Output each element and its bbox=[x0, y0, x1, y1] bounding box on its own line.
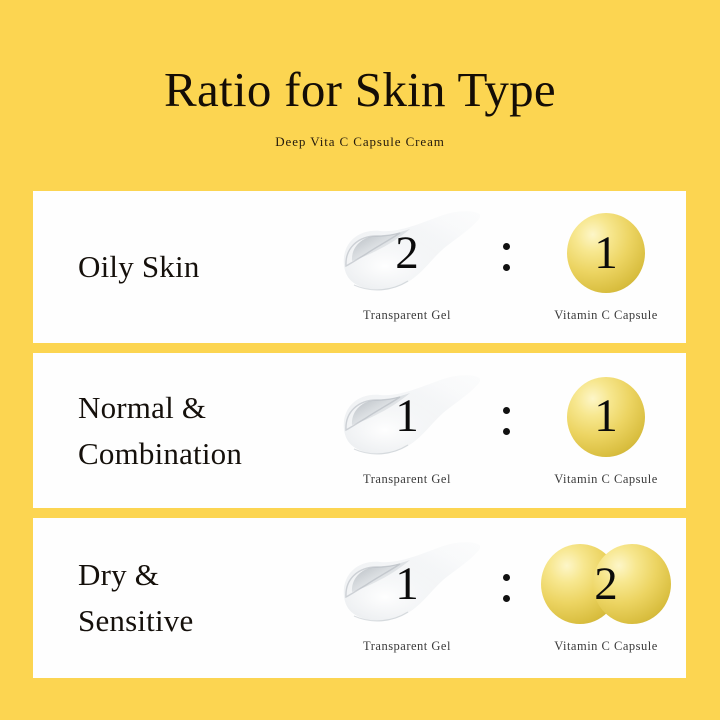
ratio-separator bbox=[487, 366, 526, 496]
ratio-card-normal-combination: Normal & Combination bbox=[33, 353, 686, 508]
capsule-art: 2 bbox=[526, 533, 686, 635]
gel-caption: Transparent Gel bbox=[363, 639, 451, 654]
ratio-card-dry-sensitive: Dry & Sensitive bbox=[33, 518, 686, 678]
page-subtitle: Deep Vita C Capsule Cream bbox=[0, 134, 720, 150]
gel-column: 1 Transparent Gel bbox=[327, 366, 487, 496]
gel-column: 2 Transparent Gel bbox=[327, 202, 487, 332]
capsule-caption: Vitamin C Capsule bbox=[554, 472, 658, 487]
gel-caption: Transparent Gel bbox=[363, 472, 451, 487]
ratio-separator bbox=[487, 202, 526, 332]
gel-amount: 1 bbox=[395, 393, 419, 440]
skin-type-line-2: Combination bbox=[78, 431, 313, 477]
colon-dot-bottom bbox=[503, 595, 510, 602]
capsule-column: 2 Vitamin C Capsule bbox=[526, 533, 686, 663]
gel-art: 2 bbox=[327, 202, 487, 304]
skin-type-line-1: Oily Skin bbox=[78, 244, 313, 290]
skin-type-line-1: Normal & bbox=[78, 385, 313, 431]
skin-type-line-2: Sensitive bbox=[78, 598, 313, 644]
gel-amount: 1 bbox=[395, 561, 419, 608]
infographic-page: Ratio for Skin Type Deep Vita C Capsule … bbox=[0, 0, 720, 720]
gel-art: 1 bbox=[327, 533, 487, 635]
header: Ratio for Skin Type Deep Vita C Capsule … bbox=[0, 0, 720, 150]
gel-caption: Transparent Gel bbox=[363, 308, 451, 323]
gel-column: 1 Transparent Gel bbox=[327, 533, 487, 663]
capsule-amount: 1 bbox=[594, 230, 618, 277]
capsule-caption: Vitamin C Capsule bbox=[554, 308, 658, 323]
skin-type-line-1: Dry & bbox=[78, 552, 313, 598]
capsule-column: 1 Vitamin C Capsule bbox=[526, 202, 686, 332]
capsule-caption: Vitamin C Capsule bbox=[554, 639, 658, 654]
gel-amount: 2 bbox=[395, 230, 419, 277]
capsule-amount: 2 bbox=[594, 561, 618, 608]
colon-dot-top bbox=[503, 574, 510, 581]
skin-type-label: Oily Skin bbox=[33, 244, 313, 290]
colon-dot-bottom bbox=[503, 428, 510, 435]
colon-dot-top bbox=[503, 407, 510, 414]
ratio-card-list: Oily Skin bbox=[33, 191, 686, 678]
ratio-card-oily: Oily Skin bbox=[33, 191, 686, 343]
capsule-art: 1 bbox=[526, 366, 686, 468]
capsule-amount: 1 bbox=[594, 393, 618, 440]
page-title: Ratio for Skin Type bbox=[0, 64, 720, 117]
colon-dot-bottom bbox=[503, 264, 510, 271]
ratio-separator bbox=[487, 533, 526, 663]
skin-type-label: Normal & Combination bbox=[33, 385, 313, 476]
colon-dot-top bbox=[503, 243, 510, 250]
skin-type-label: Dry & Sensitive bbox=[33, 552, 313, 643]
capsule-column: 1 Vitamin C Capsule bbox=[526, 366, 686, 496]
capsule-art: 1 bbox=[526, 202, 686, 304]
gel-art: 1 bbox=[327, 366, 487, 468]
